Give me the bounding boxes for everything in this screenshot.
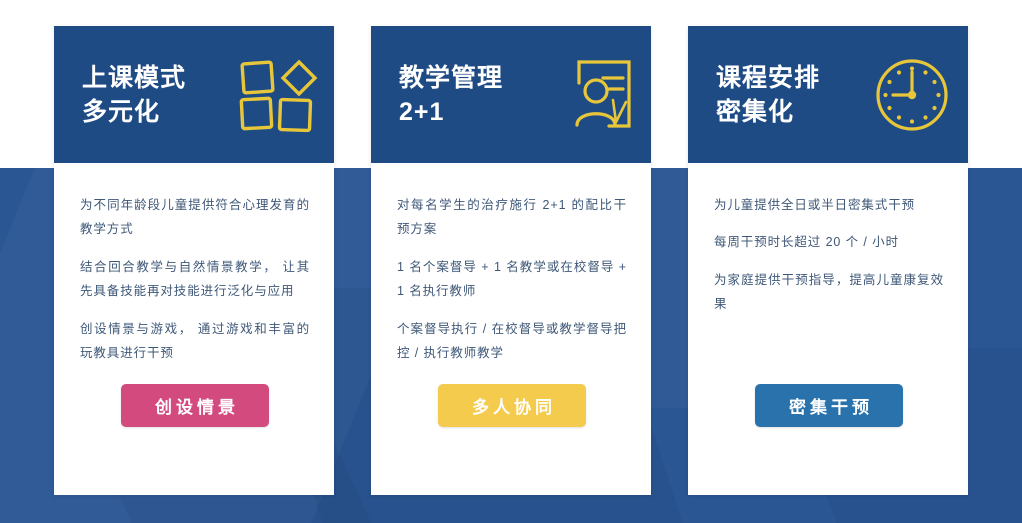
card-paragraph: 结合回合教学与自然情景教学， 让其先具备技能再对技能进行泛化与应用 bbox=[80, 255, 310, 304]
card-paragraph: 创设情景与游戏， 通过游戏和丰富的玩教具进行干预 bbox=[80, 317, 310, 366]
card-title: 上课模式 多元化 bbox=[82, 61, 236, 129]
card-paragraph: 对每名学生的治疗施行 2+1 的配比干预方案 bbox=[397, 193, 627, 242]
card-header: 课程安排 密集化 bbox=[688, 26, 968, 163]
card-title: 教学管理 2+1 bbox=[399, 61, 553, 129]
card-paragraph: 每周干预时长超过 20 个 / 小时 bbox=[714, 230, 944, 254]
card-body: 为不同年龄段儿童提供符合心理发育的教学方式 结合回合教学与自然情景教学， 让其先… bbox=[54, 163, 334, 495]
feature-card-list: 上课模式 多元化 为不同年龄段儿童提供符合心理发育的教学方式 结合回合教学与自然… bbox=[0, 0, 1022, 523]
card-paragraph: 个案督导执行 / 在校督导或教学督导把控 / 执行教师教学 bbox=[397, 317, 627, 366]
card-body: 为儿童提供全日或半日密集式干预 每周干预时长超过 20 个 / 小时 为家庭提供… bbox=[688, 163, 968, 495]
card-paragraph: 为家庭提供干预指导，提高儿童康复效果 bbox=[714, 268, 944, 317]
card-action-area: 多人协同 bbox=[397, 384, 627, 495]
four-squares-icon bbox=[236, 53, 320, 137]
card-action-area: 密集干预 bbox=[714, 384, 944, 495]
feature-card: 课程安排 密集化 bbox=[688, 26, 968, 495]
card-body: 对每名学生的治疗施行 2+1 的配比干预方案 1 名个案督导 + 1 名教学或在… bbox=[371, 163, 651, 495]
page-root: 上课模式 多元化 为不同年龄段儿童提供符合心理发育的教学方式 结合回合教学与自然… bbox=[0, 0, 1022, 523]
create-scene-button[interactable]: 创设情景 bbox=[121, 384, 269, 427]
card-paragraph: 为儿童提供全日或半日密集式干预 bbox=[714, 193, 944, 217]
card-action-area: 创设情景 bbox=[80, 384, 310, 495]
card-header: 上课模式 多元化 bbox=[54, 26, 334, 163]
clock-icon bbox=[870, 53, 954, 137]
intensive-intervention-button[interactable]: 密集干预 bbox=[755, 384, 903, 427]
feature-card: 教学管理 2+1 对每名学生的治疗施行 2+1 的配比干预方案 1 名个案督导 … bbox=[371, 26, 651, 495]
multi-person-collab-button[interactable]: 多人协同 bbox=[438, 384, 586, 427]
card-paragraph: 为不同年龄段儿童提供符合心理发育的教学方式 bbox=[80, 193, 310, 242]
feature-card: 上课模式 多元化 为不同年龄段儿童提供符合心理发育的教学方式 结合回合教学与自然… bbox=[54, 26, 334, 495]
person-card-icon bbox=[553, 53, 637, 137]
card-paragraph: 1 名个案督导 + 1 名教学或在校督导 + 1 名执行教师 bbox=[397, 255, 627, 304]
card-title: 课程安排 密集化 bbox=[716, 61, 870, 129]
card-header: 教学管理 2+1 bbox=[371, 26, 651, 163]
